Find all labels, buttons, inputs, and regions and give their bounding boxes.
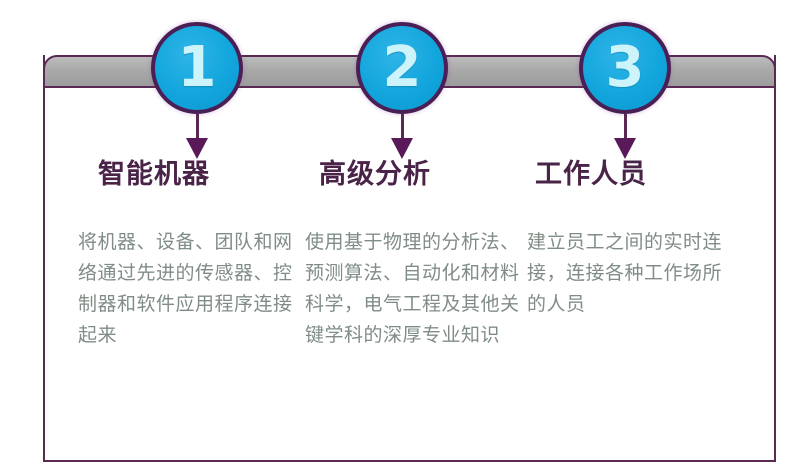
diagram-frame-left-edge bbox=[43, 55, 45, 462]
step-number-2: 2 bbox=[383, 40, 422, 96]
step-marker-1[interactable]: 1 bbox=[151, 22, 243, 114]
step-heading-2: 高级分析 bbox=[319, 152, 520, 191]
step-circle-1[interactable]: 1 bbox=[151, 22, 243, 114]
step-body-3: 建立员工之间的实时连接，连接各种工作场所的人员 bbox=[527, 227, 732, 320]
arrow-stem-1 bbox=[196, 114, 199, 140]
step-body-2: 使用基于物理的分析法、预测算法、自动化和材料科学，电气工程及其他关键学科的深厚专… bbox=[305, 227, 520, 351]
step-circle-2[interactable]: 2 bbox=[356, 22, 448, 114]
step-body-1: 将机器、设备、团队和网络通过先进的传感器、控制器和软件应用程序连接起来 bbox=[78, 227, 293, 351]
step-marker-3[interactable]: 3 bbox=[579, 22, 671, 114]
arrow-stem-3 bbox=[624, 114, 627, 140]
arrow-stem-2 bbox=[401, 114, 404, 140]
step-circle-3[interactable]: 3 bbox=[579, 22, 671, 114]
step-number-1: 1 bbox=[178, 40, 217, 96]
diagram-frame-right-edge bbox=[774, 55, 776, 462]
step-column-3: 工作人员 建立员工之间的实时连接，连接各种工作场所的人员 bbox=[527, 152, 732, 320]
step-number-3: 3 bbox=[606, 40, 645, 96]
step-marker-2[interactable]: 2 bbox=[356, 22, 448, 114]
step-heading-1: 智能机器 bbox=[98, 152, 293, 191]
step-heading-3: 工作人员 bbox=[535, 152, 732, 191]
step-column-1: 智能机器 将机器、设备、团队和网络通过先进的传感器、控制器和软件应用程序连接起来 bbox=[78, 152, 293, 351]
step-column-2: 高级分析 使用基于物理的分析法、预测算法、自动化和材料科学，电气工程及其他关键学… bbox=[305, 152, 520, 351]
